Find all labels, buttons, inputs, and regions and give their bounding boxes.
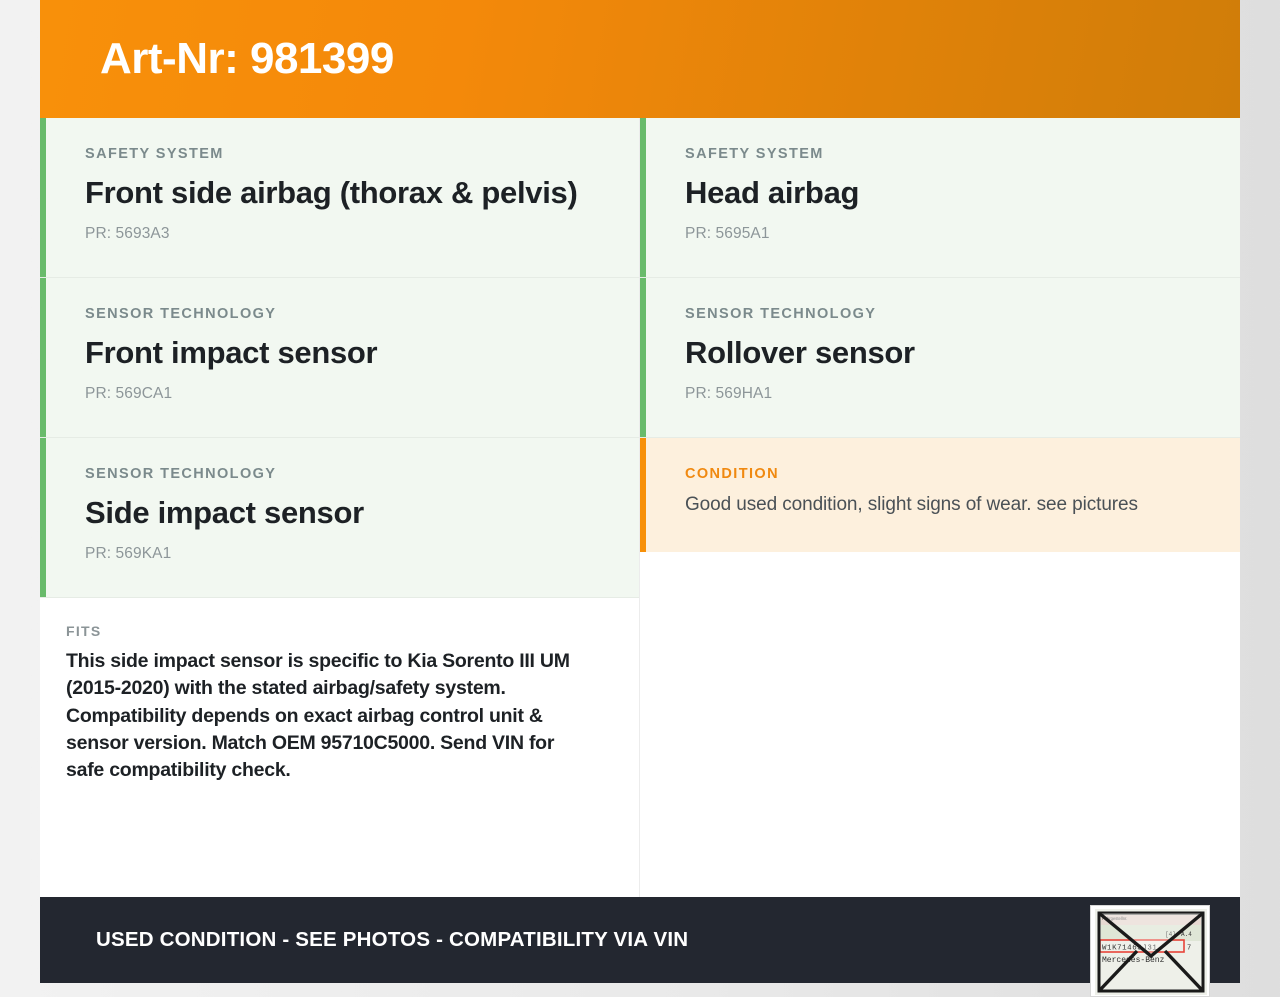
vin-document-thumbnail[interactable]: Fahrgestellnr. [4] A.4 W1K71463J31 7 Mer… [1090,905,1210,997]
spec-card-rollover-sensor: SENSOR TECHNOLOGY Rollover sensor PR: 56… [640,278,1240,438]
page-title: Art-Nr: 981399 [40,37,394,81]
spec-card-title: Head airbag [685,172,1196,214]
fits-description: This side impact sensor is specific to K… [66,648,595,785]
svg-text:A.4: A.4 [1181,931,1192,938]
spec-card-label: SENSOR TECHNOLOGY [85,306,595,322]
spec-columns: SAFETY SYSTEM Front side airbag (thorax … [40,118,1240,897]
page-footer: USED CONDITION - SEE PHOTOS - COMPATIBIL… [40,897,1240,983]
spec-card-pr-code: PR: 569CA1 [85,385,595,403]
spec-card-label: SAFETY SYSTEM [685,146,1196,162]
left-column: SAFETY SYSTEM Front side airbag (thorax … [40,118,640,897]
spec-card-title: Front side airbag (thorax & pelvis) [85,172,595,214]
footer-text: USED CONDITION - SEE PHOTOS - COMPATIBIL… [96,928,688,952]
svg-text:7: 7 [1187,945,1191,953]
spec-card-title: Side impact sensor [85,492,595,534]
fits-section: FITS This side impact sensor is specific… [40,598,639,897]
spec-card-pr-code: PR: 5695A1 [685,225,1196,243]
spec-card-pr-code: PR: 5693A3 [85,225,595,243]
condition-text: Good used condition, slight signs of wea… [685,492,1196,519]
spec-card-head-airbag: SAFETY SYSTEM Head airbag PR: 5695A1 [640,118,1240,278]
spec-card-front-side-airbag: SAFETY SYSTEM Front side airbag (thorax … [40,118,639,278]
spec-card-label: SENSOR TECHNOLOGY [85,466,595,482]
envelope-icon: Fahrgestellnr. [4] A.4 W1K71463J31 7 Mer… [1091,906,1210,997]
right-column: SAFETY SYSTEM Head airbag PR: 5695A1 SEN… [640,118,1240,897]
right-column-filler [640,552,1240,897]
spec-card-pr-code: PR: 569KA1 [85,545,595,563]
spec-card-side-impact-sensor: SENSOR TECHNOLOGY Side impact sensor PR:… [40,438,639,598]
fits-label: FITS [66,623,595,639]
page-header: Art-Nr: 981399 [40,0,1240,118]
condition-label: CONDITION [685,466,1196,482]
spec-card-title: Rollover sensor [685,332,1196,374]
spec-card-label: SAFETY SYSTEM [85,146,595,162]
condition-card: CONDITION Good used condition, slight si… [640,438,1240,553]
spec-card-pr-code: PR: 569HA1 [685,385,1196,403]
spec-card-label: SENSOR TECHNOLOGY [685,306,1196,322]
spec-card-front-impact-sensor: SENSOR TECHNOLOGY Front impact sensor PR… [40,278,639,438]
spec-card-title: Front impact sensor [85,332,595,374]
listing-page: Art-Nr: 981399 SAFETY SYSTEM Front side … [40,0,1240,983]
